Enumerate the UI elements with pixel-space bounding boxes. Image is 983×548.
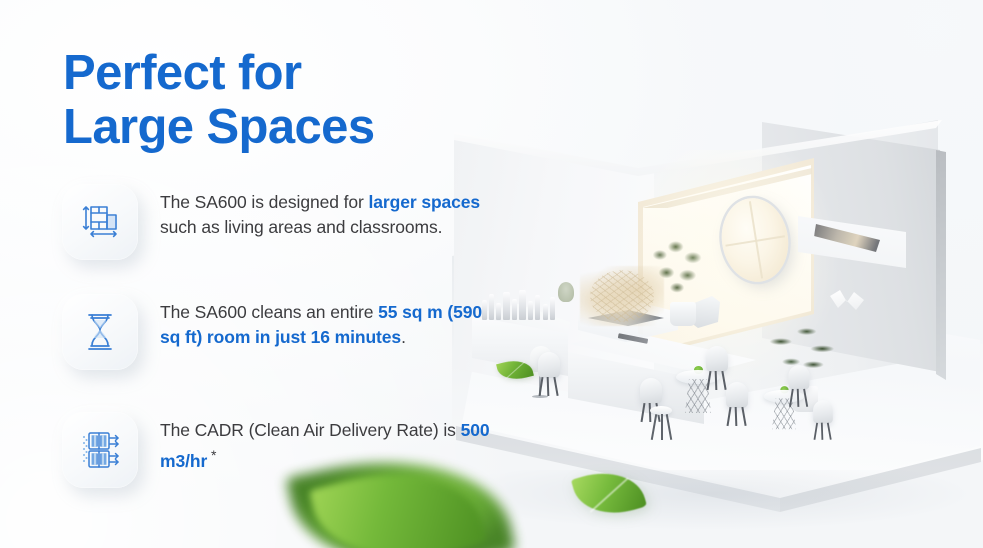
chair-leg xyxy=(715,371,717,390)
chair-leg xyxy=(789,389,793,407)
chair-back xyxy=(706,346,728,372)
chair-back xyxy=(640,378,662,404)
chair-leg xyxy=(553,377,558,396)
chair-back xyxy=(538,352,560,378)
chair-back xyxy=(789,365,810,390)
fiddle-leaf-pot xyxy=(670,302,696,326)
feature-text-clean-time: The SA600 cleans an entire 55 sq m (590 … xyxy=(160,294,490,350)
chair-leg xyxy=(821,423,823,440)
feature-text-part: . xyxy=(401,327,406,347)
air-filter-airflow-icon xyxy=(77,429,123,471)
page-title-line-1: Perfect for xyxy=(63,46,483,100)
fiddle-leaf-foliage xyxy=(648,240,714,308)
floor-plan-area-icon xyxy=(78,200,122,244)
feature-text-part: such as living areas and classrooms. xyxy=(160,217,442,237)
chair-leg xyxy=(547,377,549,396)
bottle xyxy=(512,299,517,320)
bottle-collection xyxy=(480,278,590,320)
hourglass-icon xyxy=(80,311,120,353)
chair-leg xyxy=(539,377,544,396)
stool-leg xyxy=(651,414,657,440)
cafe-chair xyxy=(811,400,834,440)
feature-item-cadr: The CADR (Clean Air Delivery Rate) is 50… xyxy=(62,412,502,488)
bottle xyxy=(496,303,501,320)
chair-leg xyxy=(641,403,646,422)
slide-root: Perfect for Large Spaces xyxy=(0,0,983,548)
chair-leg xyxy=(707,371,712,390)
feature-item-clean-time: The SA600 cleans an entire 55 sq m (590 … xyxy=(62,294,490,370)
bottle xyxy=(550,297,555,320)
feature-text-part: The CADR (Clean Air Delivery Rate) is xyxy=(160,420,461,440)
feature-text-part: The SA600 is designed for xyxy=(160,192,369,212)
bottle xyxy=(543,304,548,320)
feature-text-highlight: larger spaces xyxy=(369,192,481,212)
cafe-chair xyxy=(724,382,750,426)
cafe-chair xyxy=(536,352,562,396)
floor-plan-area-icon-card xyxy=(62,184,138,260)
air-filter-airflow-icon-card xyxy=(62,412,138,488)
stool-leg xyxy=(666,414,672,440)
chair-leg xyxy=(741,407,746,426)
bottle xyxy=(519,290,526,320)
fiddle-leaf-plant xyxy=(648,240,714,326)
chair-leg xyxy=(797,389,799,407)
chair-leg xyxy=(727,407,732,426)
hourglass-icon-card xyxy=(62,294,138,370)
bottle xyxy=(528,301,533,320)
page-title: Perfect for Large Spaces xyxy=(63,46,483,154)
chair-leg xyxy=(814,423,818,440)
chair-leg xyxy=(803,389,808,407)
bottle xyxy=(535,295,540,320)
chair-leg xyxy=(827,423,831,440)
stool-leg xyxy=(661,414,663,440)
isometric-room-render xyxy=(432,120,983,520)
cafe-stool xyxy=(650,406,672,440)
feature-text-cadr: The CADR (Clean Air Delivery Rate) is 50… xyxy=(160,412,502,474)
bottle xyxy=(503,292,510,320)
small-plant-pot xyxy=(558,282,574,302)
feature-text-large-spaces: The SA600 is designed for larger spaces … xyxy=(160,184,490,240)
cafe-chair xyxy=(787,365,812,407)
footnote-asterisk: * xyxy=(207,447,216,463)
page-title-line-2: Large Spaces xyxy=(63,100,483,154)
feature-text-part: The SA600 cleans an entire xyxy=(160,302,378,322)
feature-item-large-spaces: The SA600 is designed for larger spaces … xyxy=(62,184,490,260)
chair-back xyxy=(726,382,748,408)
chair-back xyxy=(813,400,833,423)
chair-leg xyxy=(735,407,737,426)
